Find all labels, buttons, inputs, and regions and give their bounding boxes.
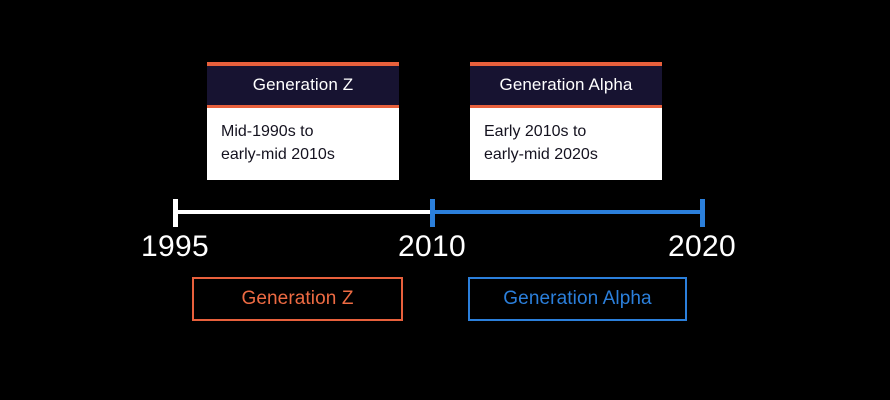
generation-alpha-card-title: Generation Alpha xyxy=(476,75,656,95)
legend-item-generation-z: Generation Z xyxy=(192,277,403,321)
generation-z-card-title: Generation Z xyxy=(213,75,393,95)
timeline-label-2010: 2010 xyxy=(372,230,492,264)
timeline-segment-gen-z xyxy=(175,210,434,214)
timeline-infographic: Generation Z Mid-1990s to early-mid 2010… xyxy=(0,0,890,400)
generation-alpha-card-header: Generation Alpha xyxy=(470,66,662,105)
generation-z-card-description: Mid-1990s to early-mid 2010s xyxy=(221,120,385,166)
timeline-tick-2020 xyxy=(700,199,705,227)
generation-alpha-card-description: Early 2010s to early-mid 2020s xyxy=(484,120,648,166)
legend-label-generation-z: Generation Z xyxy=(241,288,353,310)
generation-alpha-card: Generation Alpha Early 2010s to early-mi… xyxy=(470,62,662,180)
timeline-label-1995: 1995 xyxy=(115,230,235,264)
generation-alpha-card-body: Early 2010s to early-mid 2020s xyxy=(470,108,662,180)
timeline-label-2020: 2020 xyxy=(642,230,762,264)
timeline-tick-2010 xyxy=(430,199,435,227)
timeline-segment-gen-alpha xyxy=(432,210,704,214)
generation-z-card-header: Generation Z xyxy=(207,66,399,105)
legend-label-generation-alpha: Generation Alpha xyxy=(503,288,651,310)
generation-z-card-body: Mid-1990s to early-mid 2010s xyxy=(207,108,399,180)
timeline-tick-1995 xyxy=(173,199,178,227)
generation-z-card: Generation Z Mid-1990s to early-mid 2010… xyxy=(207,62,399,180)
timeline-axis: 1995 2010 2020 xyxy=(0,0,890,400)
legend-item-generation-alpha: Generation Alpha xyxy=(468,277,687,321)
